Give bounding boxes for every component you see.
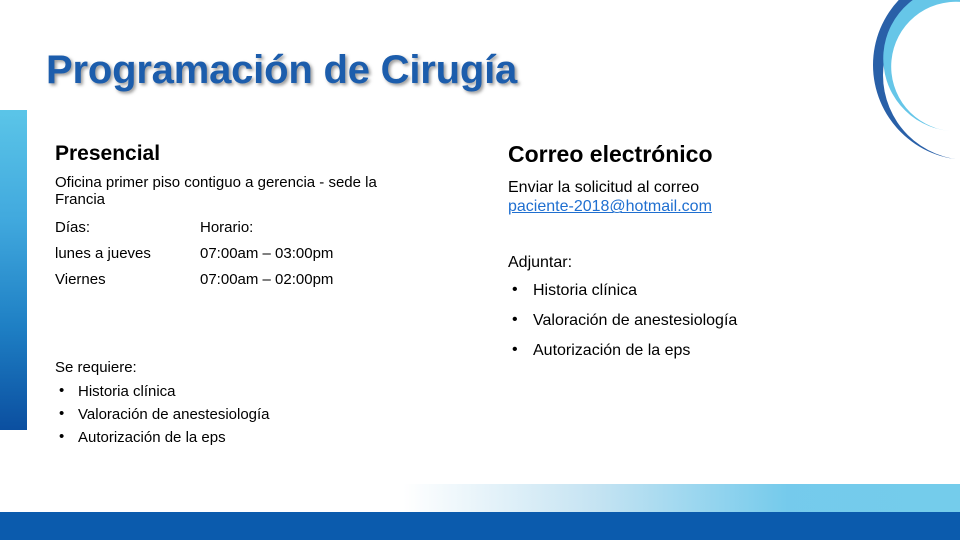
list-item-label: Valoración de anestesiología — [78, 406, 270, 423]
schedule-hours-1: 07:00am – 03:00pm — [200, 246, 333, 272]
table-row: lunes a jueves 07:00am – 03:00pm — [55, 246, 333, 272]
footer-gradient-band — [0, 484, 960, 512]
attachments-list: • Historia clínica • Valoración de anest… — [508, 281, 908, 361]
schedule-header-days: Días: — [55, 220, 200, 246]
table-row: Viernes 07:00am – 02:00pm — [55, 272, 333, 298]
requirements-label: Se requiere: — [55, 360, 455, 377]
heading-presencial: Presencial — [55, 142, 455, 165]
left-gradient-bar — [0, 110, 27, 430]
list-item: • Autorización de la eps — [508, 341, 908, 360]
schedule-days-2: Viernes — [55, 272, 200, 298]
email-link[interactable]: paciente-2018@hotmail.com — [508, 198, 712, 215]
list-item: • Historia clínica — [55, 384, 455, 401]
column-correo: Correo electrónico Enviar la solicitud a… — [508, 142, 908, 371]
list-item-label: Autorización de la eps — [78, 429, 226, 446]
column-presencial: Presencial Oficina primer piso contiguo … — [55, 142, 455, 453]
list-item: • Valoración de anestesiología — [508, 311, 908, 330]
list-item-label: Historia clínica — [533, 282, 637, 299]
page-title: Programación de Cirugía — [46, 48, 517, 93]
email-instruction: Enviar la solicitud al correo — [508, 178, 908, 197]
list-item: • Autorización de la eps — [55, 430, 455, 447]
bullet-icon: • — [59, 429, 64, 446]
list-item-label: Autorización de la eps — [533, 342, 690, 359]
schedule-days-1: lunes a jueves — [55, 246, 200, 272]
schedule-hours-2: 07:00am – 02:00pm — [200, 272, 333, 298]
attach-label: Adjuntar: — [508, 253, 908, 272]
list-item-label: Valoración de anestesiología — [533, 312, 737, 329]
list-item: • Valoración de anestesiología — [55, 407, 455, 424]
requirements-list: • Historia clínica • Valoración de anest… — [55, 384, 455, 446]
table-row-header: Días: Horario: — [55, 220, 333, 246]
bullet-icon: • — [512, 280, 518, 299]
bullet-icon: • — [59, 406, 64, 423]
list-item: • Historia clínica — [508, 281, 908, 300]
bullet-icon: • — [512, 340, 518, 359]
schedule-header-hours: Horario: — [200, 220, 333, 246]
office-address: Oficina primer piso contiguo a gerencia … — [55, 175, 395, 208]
heading-correo: Correo electrónico — [508, 142, 908, 167]
schedule-table: Días: Horario: lunes a jueves 07:00am – … — [55, 220, 333, 297]
list-item-label: Historia clínica — [78, 383, 176, 400]
bullet-icon: • — [512, 310, 518, 329]
bullet-icon: • — [59, 383, 64, 400]
slide-canvas: Programación de Cirugía Presencial Ofici… — [0, 0, 960, 540]
footer-bar — [0, 512, 960, 540]
